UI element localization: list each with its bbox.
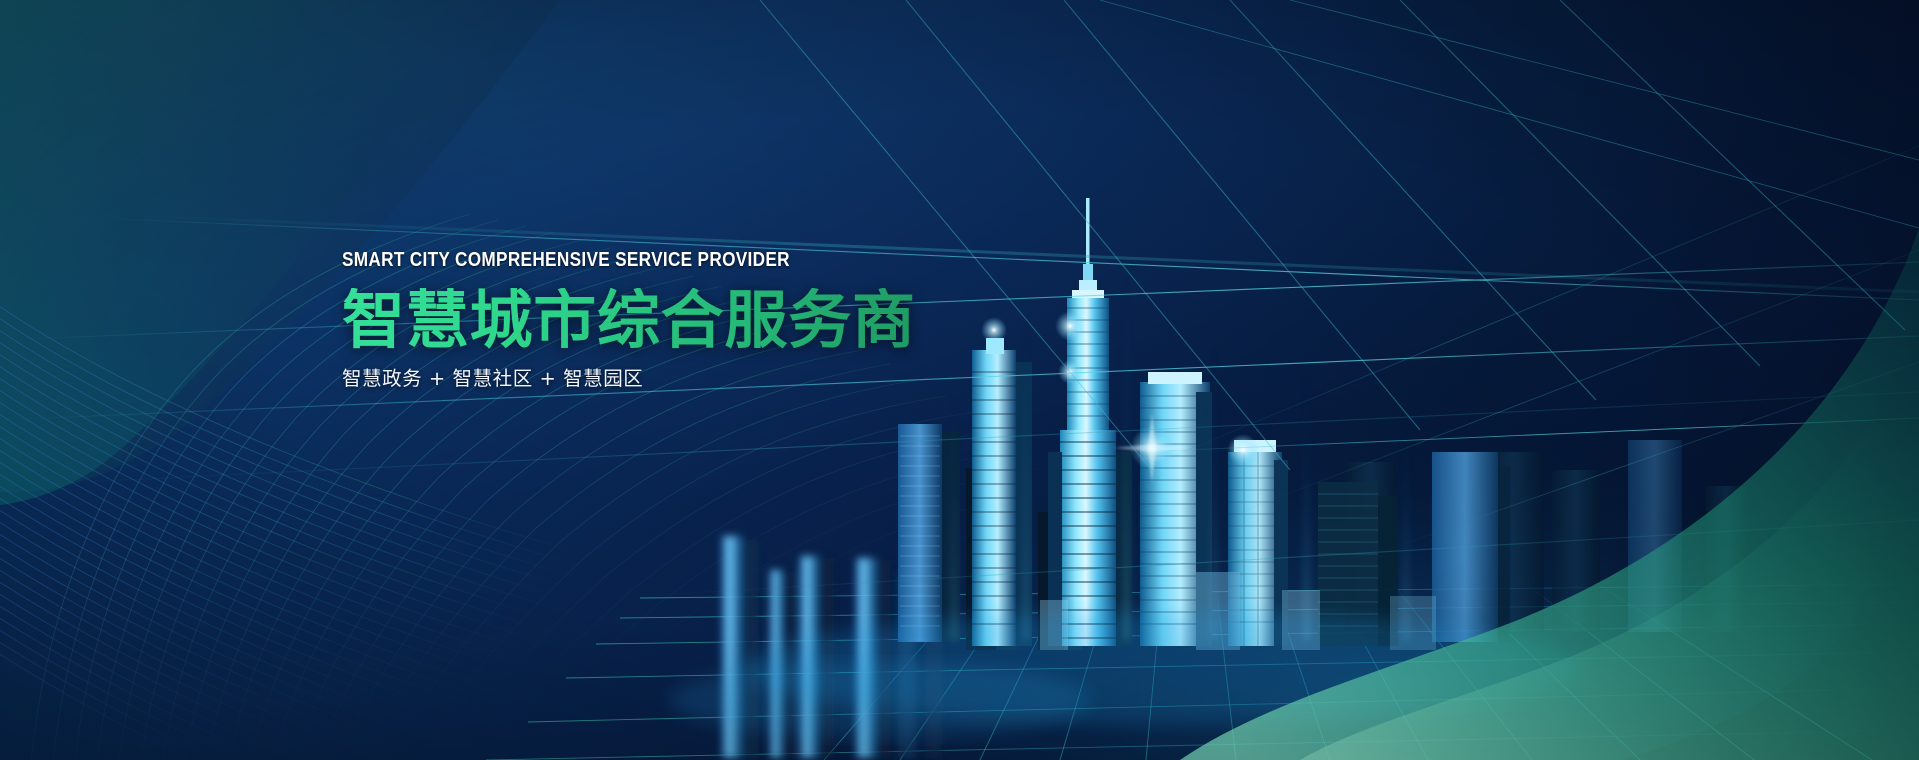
hero-banner: SMART CITY COMPREHENSIVE SERVICE PROVIDE…: [0, 0, 1919, 760]
hero-eyebrow-english: SMART CITY COMPREHENSIVE SERVICE PROVIDE…: [342, 250, 996, 270]
hero-headline-chinese: 智慧城市综合服务商: [342, 288, 1102, 354]
hero-subheadline-chinese: 智慧政务 + 智慧社区 + 智慧园区: [342, 366, 1102, 391]
hero-copy-block: SMART CITY COMPREHENSIVE SERVICE PROVIDE…: [342, 250, 1102, 391]
